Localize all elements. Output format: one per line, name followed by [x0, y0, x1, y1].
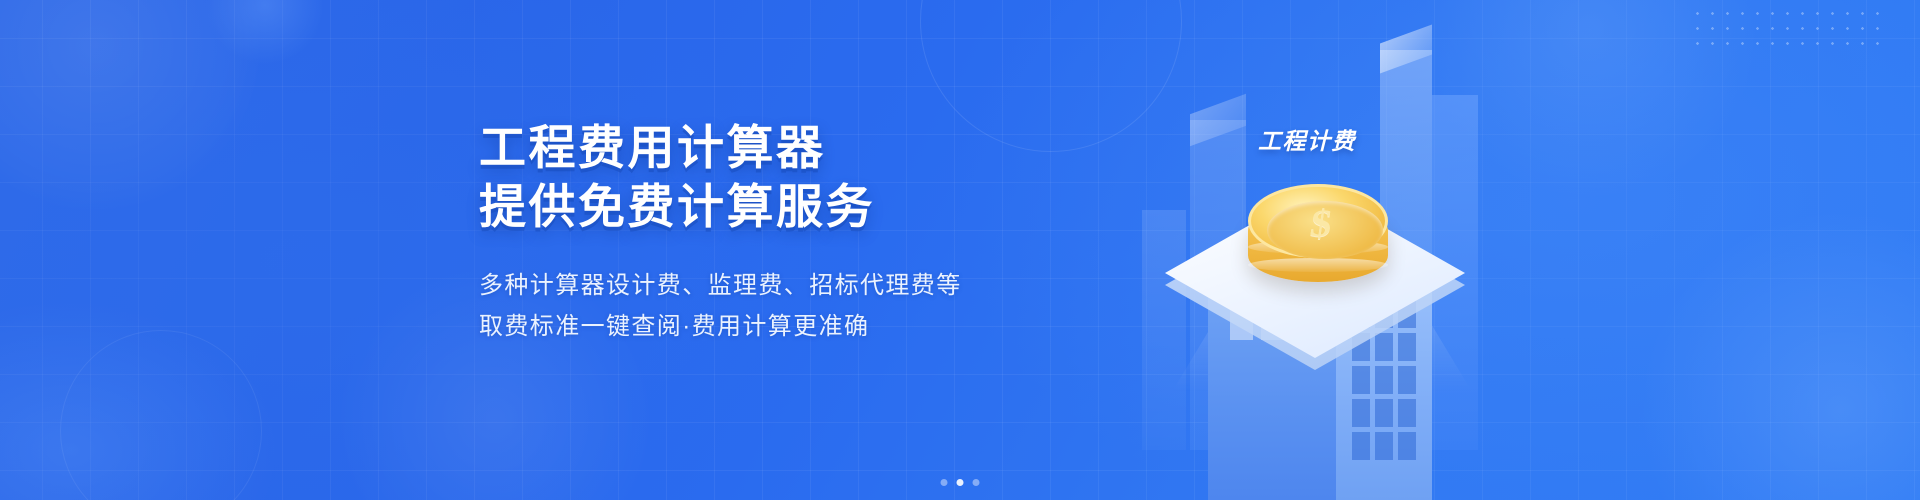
carousel-dots[interactable]	[941, 479, 980, 486]
coin-top-face: $	[1248, 184, 1388, 258]
coin-stack-icon: $	[1244, 178, 1394, 306]
banner-subtitle: 多种计算器设计费、监理费、招标代理费等 取费标准一键查阅·费用计算更准确	[479, 265, 962, 347]
coin-rib-lower	[1248, 258, 1388, 272]
headline-line-2: 提供免费计算服务	[479, 177, 962, 236]
carousel-dot-1[interactable]	[941, 479, 948, 486]
banner-illustration: $ 工程计费	[1080, 0, 1580, 500]
subtitle-line-1: 多种计算器设计费、监理费、招标代理费等	[479, 265, 962, 306]
carousel-dot-3[interactable]	[973, 479, 980, 486]
illustration-badge-label: 工程计费	[1258, 122, 1356, 156]
dollar-sign-icon: $	[1246, 190, 1396, 258]
headline-line-1: 工程费用计算器	[479, 121, 826, 174]
decorative-dot-matrix	[1690, 6, 1880, 46]
building-bar-far-left	[1142, 210, 1186, 450]
hero-banner: 工程费用计算器 提供免费计算服务 多种计算器设计费、监理费、招标代理费等 取费标…	[0, 0, 1920, 500]
banner-copy-block: 工程费用计算器 提供免费计算服务 多种计算器设计费、监理费、招标代理费等 取费标…	[479, 118, 962, 347]
banner-headline: 工程费用计算器 提供免费计算服务	[479, 118, 962, 236]
carousel-dot-2[interactable]	[957, 479, 964, 486]
subtitle-line-2: 取费标准一键查阅·费用计算更准确	[479, 306, 962, 347]
